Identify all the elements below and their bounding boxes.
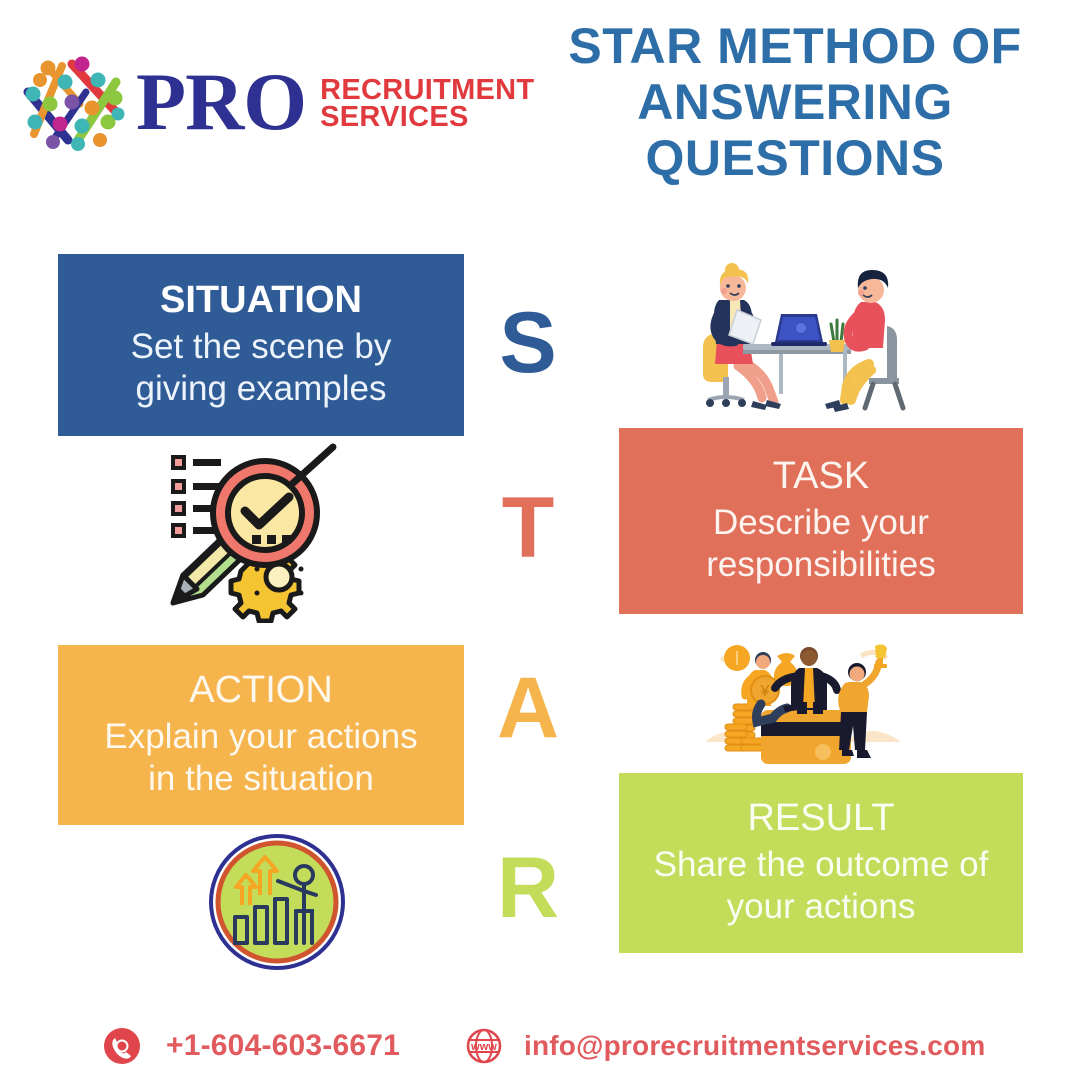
footer-contact-bar: +1-604-603-6671 www info@prorecruitments… xyxy=(0,1018,1080,1080)
people-diamond-logo-icon xyxy=(20,52,130,152)
brand-logo: PRO RECRUITMENT SERVICES xyxy=(20,52,534,152)
star-letter-a: A xyxy=(483,665,573,751)
step-title-task: TASK xyxy=(773,455,869,498)
magnifier-checklist-icon xyxy=(155,443,350,623)
step-card-task: TASK Describe your responsibilities xyxy=(619,428,1023,614)
phone-icon xyxy=(100,1024,144,1068)
star-letter-s: S xyxy=(483,300,573,386)
step-desc-result-line2: your actions xyxy=(727,886,916,929)
star-letter-t: T xyxy=(483,485,573,571)
page-title: STAR METHOD OF ANSWERING QUESTIONS xyxy=(545,18,1045,186)
step-desc-task-line2: responsibilities xyxy=(706,544,936,587)
job-interview-illustration xyxy=(683,262,923,427)
step-title-result: RESULT xyxy=(747,797,894,840)
svg-text:www: www xyxy=(470,1041,497,1053)
step-card-action: ACTION Explain your actions in the situa… xyxy=(58,645,464,825)
infographic-canvas: PRO RECRUITMENT SERVICES STAR METHOD OF … xyxy=(0,0,1080,1080)
growth-chart-badge-icon xyxy=(208,833,346,971)
brand-name-secondary-line1: RECRUITMENT xyxy=(320,77,534,104)
team-success-illustration: ¥ xyxy=(705,638,910,770)
brand-name-primary: PRO xyxy=(136,65,306,139)
star-letter-r: R xyxy=(483,845,573,931)
step-desc-situation-line1: Set the scene by xyxy=(131,326,392,369)
step-title-situation: SITUATION xyxy=(160,279,362,322)
contact-email[interactable]: www info@prorecruitmentservices.com xyxy=(462,1024,985,1068)
step-desc-result-line1: Share the outcome of xyxy=(654,844,989,887)
step-desc-situation-line2: giving examples xyxy=(136,368,387,411)
brand-wordmark: PRO RECRUITMENT SERVICES xyxy=(136,65,534,139)
step-desc-task-line1: Describe your xyxy=(713,502,929,545)
step-card-situation: SITUATION Set the scene by giving exampl… xyxy=(58,254,464,436)
step-desc-action-line2: in the situation xyxy=(148,758,374,801)
www-globe-icon: www xyxy=(462,1024,506,1068)
phone-number: +1-604-603-6671 xyxy=(166,1029,400,1063)
brand-name-secondary: RECRUITMENT SERVICES xyxy=(320,77,534,130)
email-address: info@prorecruitmentservices.com xyxy=(524,1030,985,1062)
step-desc-action-line1: Explain your actions xyxy=(104,716,417,759)
brand-name-secondary-line2: SERVICES xyxy=(320,104,534,131)
svg-text:¥: ¥ xyxy=(760,683,770,700)
step-card-result: RESULT Share the outcome of your actions xyxy=(619,773,1023,953)
contact-phone[interactable]: +1-604-603-6671 xyxy=(100,1024,400,1068)
step-title-action: ACTION xyxy=(189,669,333,712)
